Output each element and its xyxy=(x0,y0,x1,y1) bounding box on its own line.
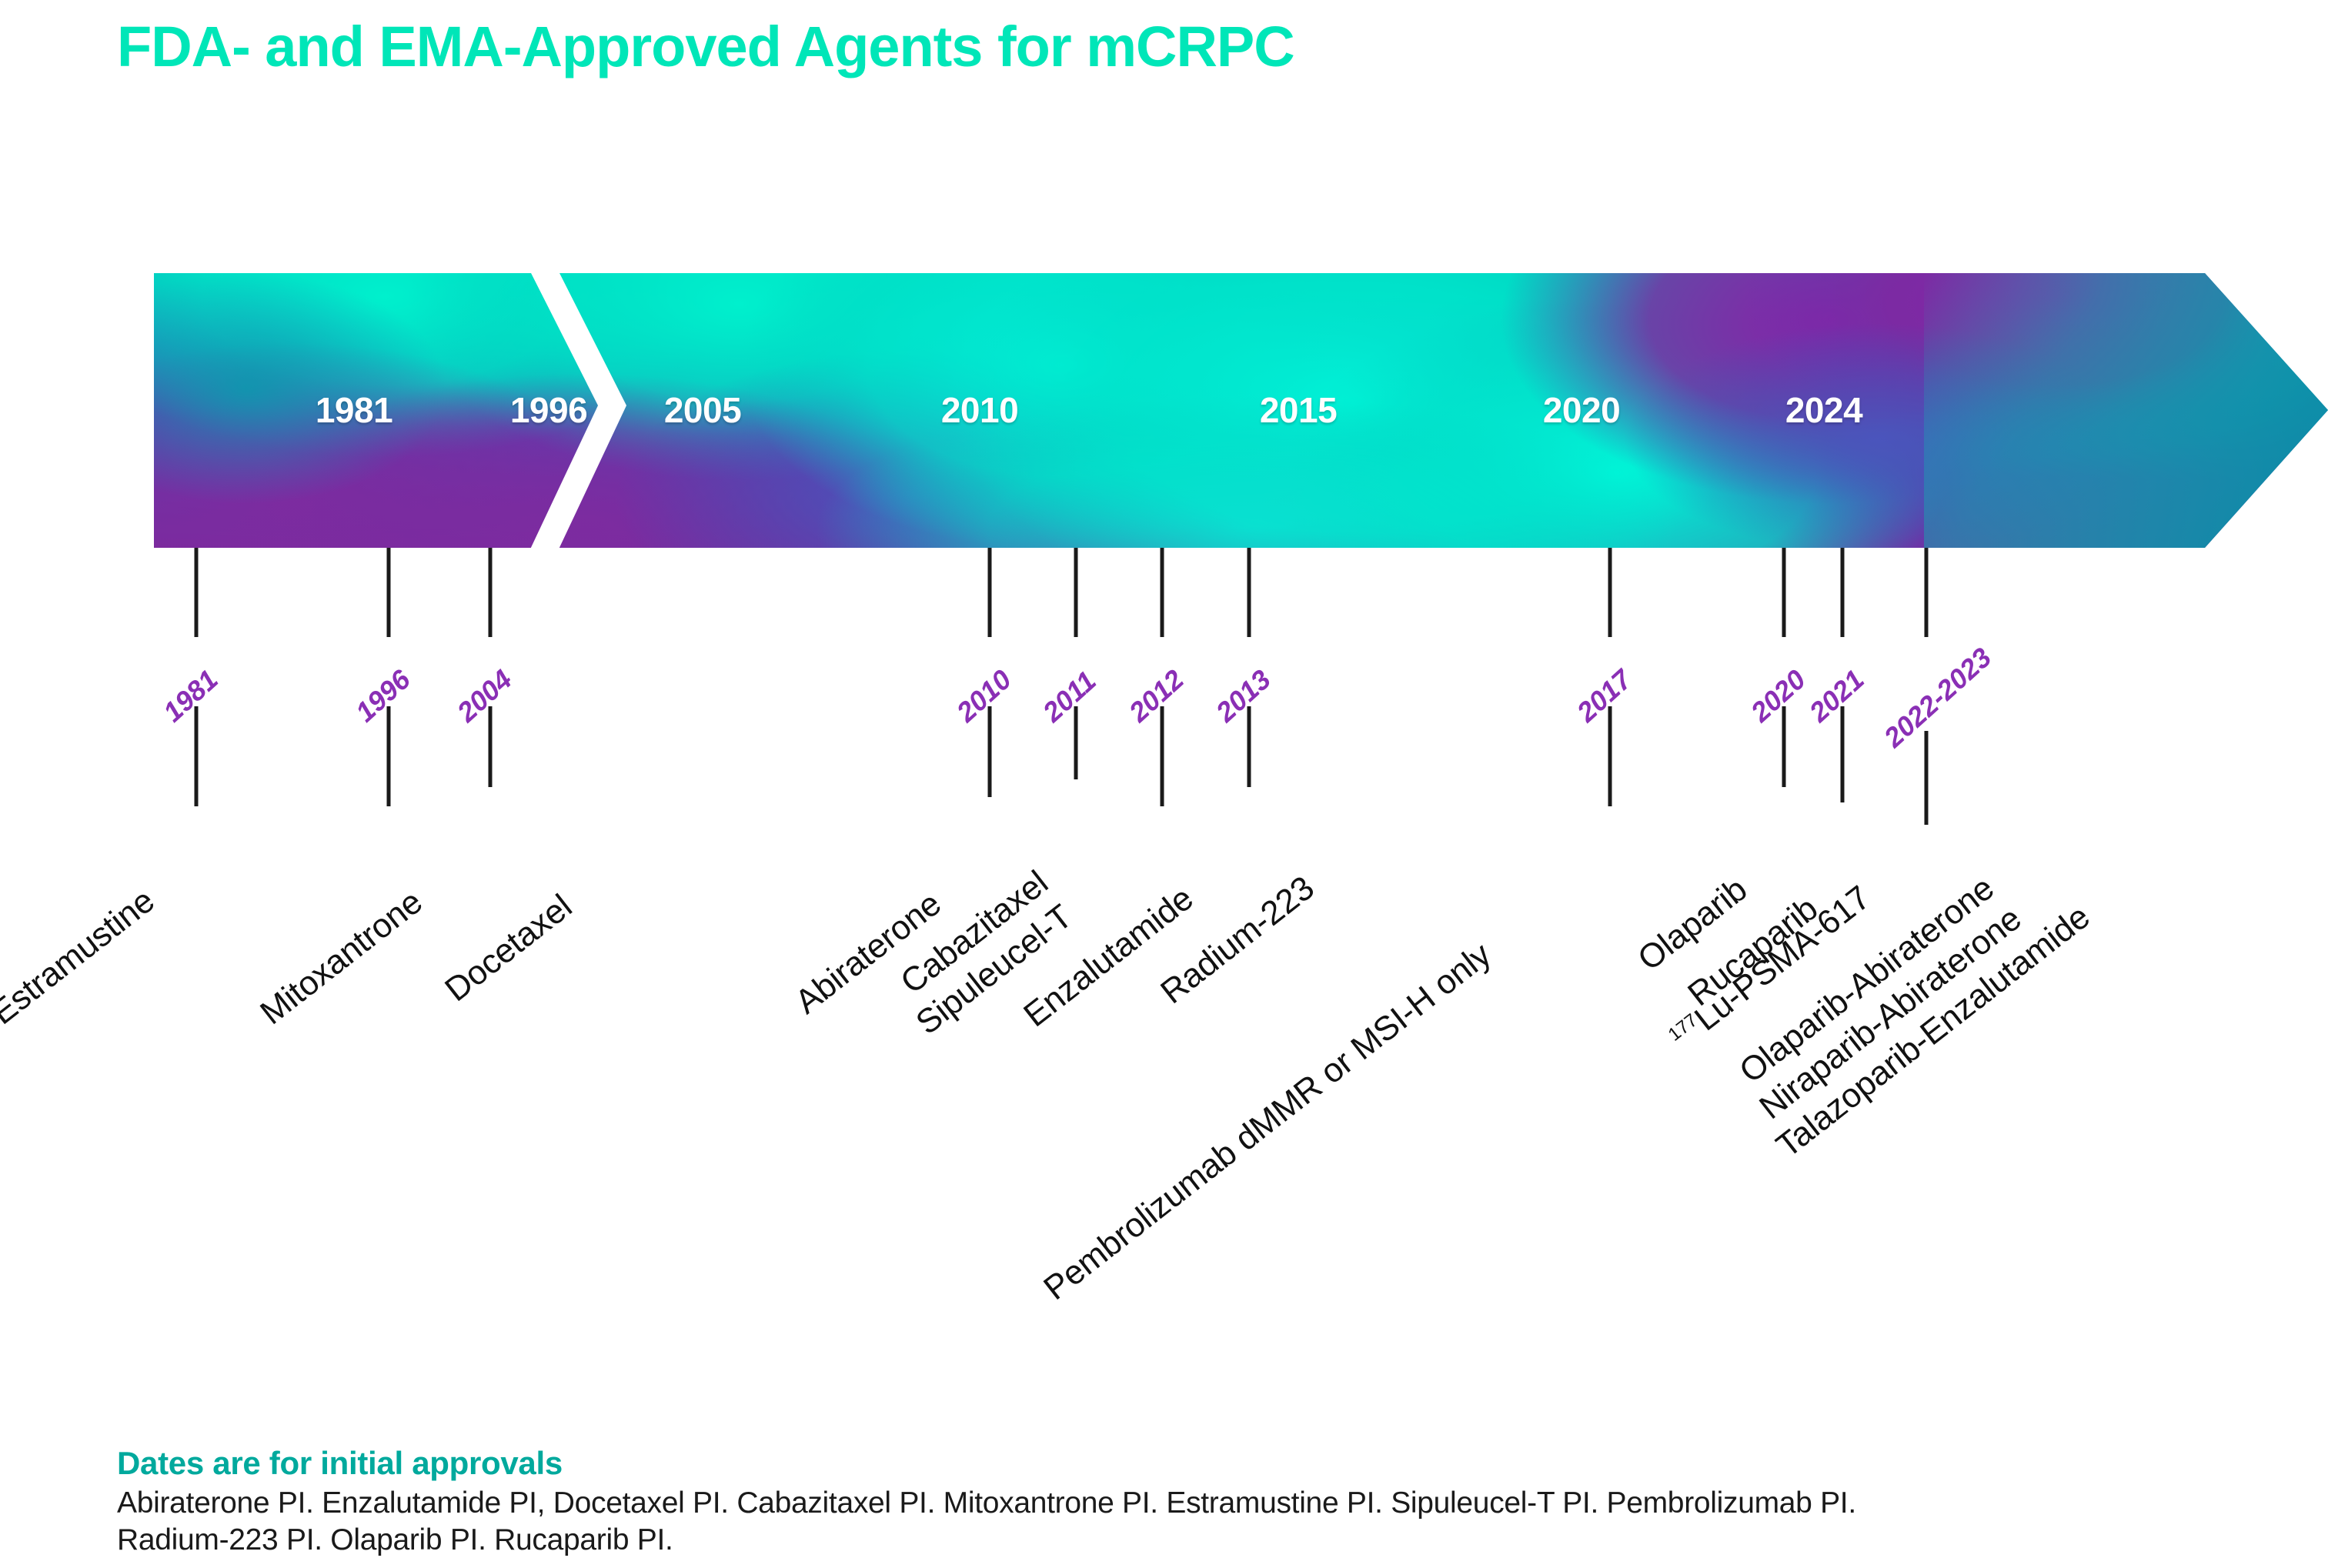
tick-upper-2022-2023 xyxy=(1925,548,1929,637)
tick-lower-2020 xyxy=(1782,706,1786,787)
axis-year-2024: 2024 xyxy=(1785,389,1862,431)
tick-upper-2012 xyxy=(1161,548,1164,637)
event-year-2010: 2010 xyxy=(950,663,1018,729)
axis-year-2020: 2020 xyxy=(1543,389,1620,431)
tick-lower-2017 xyxy=(1608,706,1612,806)
event-year-2012: 2012 xyxy=(1123,663,1191,729)
tick-lower-2012 xyxy=(1161,706,1164,806)
event-year-2022-2023: 2022-2023 xyxy=(1878,642,1998,754)
footer-line-2: Radium-223 PI. Olaparib PI. Rucaparib PI… xyxy=(117,1522,2195,1559)
event-year-2013: 2013 xyxy=(1210,663,1278,729)
axis-year-2005: 2005 xyxy=(664,389,741,431)
footer-line-1: Abiraterone PI. Enzalutamide PI, Docetax… xyxy=(117,1485,2195,1522)
event-year-2011: 2011 xyxy=(1037,665,1103,729)
axis-year-1996: 1996 xyxy=(510,389,587,431)
tick-lower-2021 xyxy=(1841,706,1845,802)
tick-lower-2013 xyxy=(1248,706,1251,787)
axis-year-2010: 2010 xyxy=(941,389,1018,431)
drug-label-estramustine: Estramustine xyxy=(0,882,162,1033)
timeline-bar: 1981 1996 2005 2010 2015 2020 2024 xyxy=(154,273,2328,548)
tick-lower-2010 xyxy=(988,706,992,797)
drug-label-mitoxantrone: Mitoxantrone xyxy=(253,882,429,1033)
axis-year-2015: 2015 xyxy=(1260,389,1337,431)
tick-lower-2004 xyxy=(489,706,493,787)
tick-lower-1996 xyxy=(387,706,391,806)
event-year-2004: 2004 xyxy=(451,663,519,729)
tick-lines xyxy=(0,0,2328,1568)
tick-upper-1996 xyxy=(387,548,391,637)
tick-upper-2004 xyxy=(489,548,493,637)
event-year-2020: 2020 xyxy=(1745,663,1812,729)
tick-upper-2010 xyxy=(988,548,992,637)
event-year-2017: 2017 xyxy=(1571,663,1638,729)
timeline-bar-graphic xyxy=(154,273,2328,548)
tick-upper-1981 xyxy=(195,548,199,637)
footer: Dates are for initial approvals Abirater… xyxy=(117,1445,2195,1558)
page-title: FDA- and EMA-Approved Agents for mCRPC xyxy=(117,14,1294,79)
event-year-2021: 2021 xyxy=(1803,663,1871,729)
tick-upper-2020 xyxy=(1782,548,1786,637)
tick-upper-2017 xyxy=(1608,548,1612,637)
tick-upper-2011 xyxy=(1074,548,1078,637)
axis-year-1981: 1981 xyxy=(316,389,392,431)
tick-lower-2011 xyxy=(1074,706,1078,779)
drug-label-docetaxel: Docetaxel xyxy=(438,887,579,1009)
tick-lower-2022-2023 xyxy=(1925,731,1929,825)
drug-label-enzalutamide: Enzalutamide xyxy=(1017,879,1201,1035)
tick-upper-2021 xyxy=(1841,548,1845,637)
footer-heading: Dates are for initial approvals xyxy=(117,1445,2195,1482)
event-year-1981: 1981 xyxy=(157,663,225,729)
event-year-1996: 1996 xyxy=(349,663,417,729)
tick-lower-1981 xyxy=(195,706,199,806)
tick-upper-2013 xyxy=(1248,548,1251,637)
drug-label-pembrolizumab: Pembrolizumab dMMR or MSI-H only xyxy=(1037,936,1498,1308)
